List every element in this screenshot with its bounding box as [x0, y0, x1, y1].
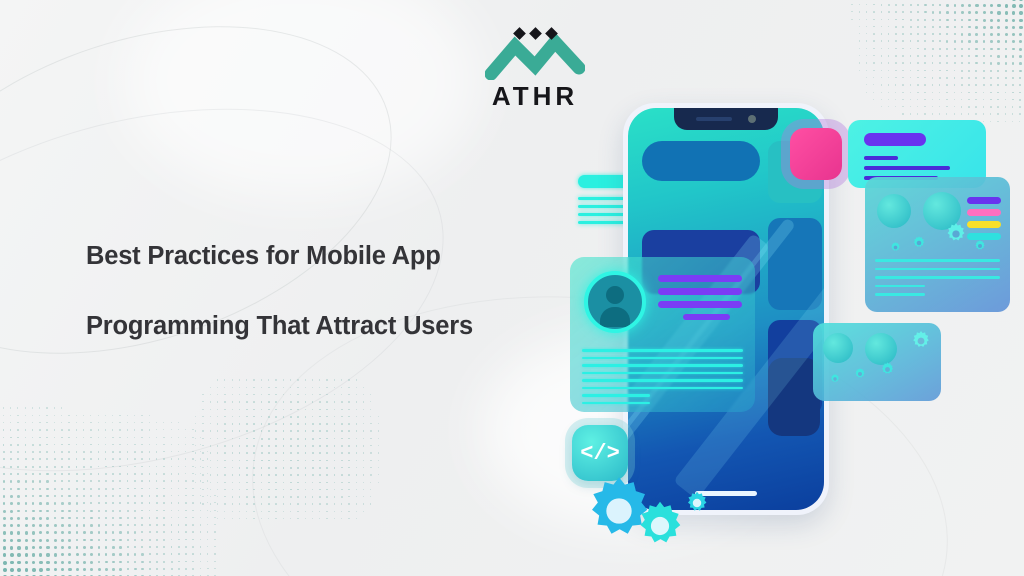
halftone-dot: [232, 416, 234, 418]
halftone-dot: [348, 445, 350, 447]
halftone-dot: [90, 437, 92, 439]
halftone-dot: [268, 496, 270, 498]
halftone-dot: [112, 531, 114, 533]
halftone-dot: [305, 467, 307, 469]
halftone-dot: [873, 40, 875, 42]
halftone-dot: [3, 415, 4, 416]
halftone-dot: [997, 33, 1000, 36]
halftone-dot: [866, 26, 867, 27]
halftone-dot: [112, 561, 115, 564]
halftone-dot: [3, 473, 5, 475]
halftone-dot: [348, 438, 350, 440]
halftone-dot: [859, 11, 860, 12]
halftone-dot: [997, 26, 1000, 29]
halftone-dot: [283, 379, 284, 380]
text-line: [875, 276, 1000, 279]
halftone-dot: [10, 480, 13, 483]
halftone-dot: [185, 568, 187, 570]
halftone-dot: [178, 422, 179, 423]
halftone-dot: [178, 488, 180, 490]
halftone-dot: [239, 452, 241, 454]
avatar-body: [600, 307, 630, 327]
halftone-dot: [46, 488, 48, 490]
text-line: [683, 314, 730, 320]
halftone-dot: [239, 438, 241, 440]
halftone-dot: [946, 62, 948, 64]
halftone-dot: [261, 409, 263, 411]
halftone-dot: [217, 489, 218, 490]
halftone-dot: [105, 415, 106, 416]
halftone-dot: [134, 488, 136, 490]
halftone-dot: [866, 33, 867, 34]
halftone-dot: [990, 48, 993, 51]
halftone-dot: [378, 438, 379, 439]
halftone-dot: [866, 70, 867, 71]
halftone-dot: [119, 480, 121, 482]
halftone-dot: [112, 510, 114, 512]
halftone-dot: [98, 561, 101, 564]
halftone-dot: [39, 495, 42, 498]
halftone-dot: [112, 422, 113, 423]
halftone-dot: [210, 460, 212, 462]
halftone-dot: [217, 496, 218, 497]
halftone-dot: [246, 409, 248, 411]
halftone-dot: [297, 496, 299, 498]
halftone-dot: [253, 489, 255, 491]
halftone-dot: [224, 496, 225, 497]
halftone-dot: [46, 539, 49, 542]
halftone-dot: [983, 62, 985, 64]
gear-orb-icon: [877, 194, 911, 228]
halftone-dot: [924, 26, 926, 28]
halftone-dot: [10, 561, 14, 565]
halftone-dot: [217, 467, 219, 469]
halftone-dot: [305, 401, 307, 403]
halftone-dot: [341, 445, 343, 447]
halftone-dot: [348, 482, 350, 484]
halftone-dot: [917, 19, 919, 21]
halftone-dot: [171, 466, 173, 468]
halftone-dot: [217, 452, 219, 454]
gear-icon-small: [911, 235, 927, 251]
halftone-dot: [149, 517, 151, 519]
halftone-dot: [39, 473, 41, 475]
halftone-dot: [224, 416, 226, 418]
halftone-dot: [3, 444, 5, 446]
halftone-dot: [261, 452, 263, 454]
halftone-dot: [3, 510, 6, 513]
halftone-dot: [910, 4, 912, 6]
halftone-dot: [149, 539, 151, 541]
halftone-dot: [990, 77, 992, 79]
halftone-dot: [305, 474, 307, 476]
halftone-dot: [141, 451, 143, 453]
halftone-dot: [105, 517, 107, 519]
halftone-dot: [46, 444, 48, 446]
halftone-dot: [32, 407, 33, 408]
halftone-dot: [924, 62, 926, 64]
halftone-dot: [105, 561, 108, 564]
halftone-dot: [119, 510, 121, 512]
halftone-dot: [112, 415, 113, 416]
halftone-dot: [163, 531, 165, 533]
halftone-dot: [246, 445, 248, 447]
halftone-dot: [76, 429, 78, 431]
halftone-dot: [356, 518, 357, 519]
halftone-dot: [1019, 11, 1023, 15]
halftone-dot: [171, 553, 173, 555]
halftone-dot: [46, 502, 49, 505]
halftone-dot: [290, 409, 292, 411]
halftone-dot: [39, 568, 43, 572]
halftone-dot: [268, 467, 270, 469]
halftone-dot: [881, 4, 883, 6]
halftone-dot: [192, 502, 194, 504]
halftone-dot: [127, 473, 129, 475]
halftone-dot: [305, 409, 307, 411]
halftone-dot: [17, 502, 20, 505]
halftone-dot: [46, 546, 49, 549]
halftone-dot: [39, 480, 41, 482]
status-pill: [967, 209, 1001, 216]
halftone-dot: [10, 510, 13, 513]
halftone-dot: [141, 444, 143, 446]
screen-block-hero: [642, 141, 760, 181]
halftone-dot: [32, 510, 35, 513]
halftone-dot: [134, 458, 136, 460]
halftone-dot: [239, 445, 241, 447]
halftone-dot: [246, 401, 248, 403]
halftone-dot: [90, 444, 92, 446]
halftone-dot: [363, 416, 364, 417]
halftone-dot: [32, 539, 35, 542]
phone-notch: [674, 108, 778, 130]
halftone-dot: [32, 466, 34, 468]
halftone-dot: [312, 445, 314, 447]
halftone-dot: [156, 488, 158, 490]
halftone-dot: [1019, 33, 1022, 36]
halftone-dot: [32, 444, 34, 446]
halftone-dot: [253, 387, 254, 388]
halftone-dot: [68, 524, 71, 527]
halftone-dot: [290, 452, 292, 454]
halftone-dot: [341, 438, 343, 440]
halftone-dot: [39, 517, 42, 520]
halftone-dot: [946, 4, 949, 7]
halftone-dot: [46, 437, 48, 439]
halftone-dot: [297, 387, 299, 389]
halftone-dot: [232, 496, 234, 498]
halftone-dot: [39, 531, 42, 534]
halftone-dot: [895, 26, 897, 28]
text-line: [875, 268, 1000, 271]
halftone-dot: [1019, 55, 1022, 58]
halftone-pattern-bottom-left: [0, 400, 228, 576]
halftone-dot: [83, 517, 86, 520]
halftone-dot: [178, 510, 180, 512]
gear-icon-small: [853, 367, 867, 381]
halftone-dot: [185, 524, 187, 526]
halftone-dot: [200, 553, 202, 555]
halftone-dot: [76, 524, 79, 527]
halftone-dot: [268, 482, 270, 484]
halftone-dot: [61, 553, 64, 556]
halftone-dot: [25, 458, 27, 460]
halftone-dot: [239, 511, 240, 512]
halftone-dot: [924, 11, 926, 13]
halftone-dot: [232, 409, 234, 411]
halftone-dot: [112, 553, 115, 556]
halftone-dot: [356, 401, 357, 402]
halftone-dot: [214, 546, 215, 547]
halftone-dot: [3, 458, 5, 460]
halftone-dot: [207, 561, 208, 562]
halftone-dot: [319, 387, 320, 388]
halftone-dot: [68, 466, 70, 468]
halftone-dot: [210, 423, 211, 424]
halftone-dot: [290, 474, 292, 476]
halftone-dot: [61, 495, 63, 497]
halftone-dot: [356, 503, 357, 504]
halftone-dot: [178, 568, 180, 570]
halftone-dot: [917, 4, 919, 6]
halftone-dot: [54, 422, 55, 423]
halftone-dot: [305, 511, 307, 513]
halftone-dot: [17, 524, 20, 527]
halftone-dot: [363, 387, 364, 388]
halftone-dot: [975, 55, 977, 57]
halftone-dot: [134, 466, 136, 468]
halftone-dot: [10, 517, 13, 520]
halftone-dot: [163, 539, 165, 541]
halftone-dot: [997, 77, 999, 79]
halftone-dot: [76, 502, 78, 504]
halftone-dot: [290, 503, 292, 505]
halftone-dot: [185, 480, 187, 482]
halftone-dot: [156, 553, 158, 555]
halftone-dot: [888, 40, 890, 42]
halftone-dot: [17, 473, 19, 475]
halftone-dot: [983, 77, 985, 79]
halftone-dot: [119, 422, 120, 423]
halftone-dot: [54, 510, 57, 513]
halftone-dot: [283, 401, 285, 403]
halftone-dot: [156, 524, 158, 526]
halftone-dot: [98, 524, 101, 527]
halftone-dot: [290, 387, 292, 389]
halftone-dot: [939, 48, 941, 50]
halftone-dot: [134, 429, 135, 430]
halftone-dot: [25, 495, 28, 498]
halftone-dot: [76, 473, 78, 475]
halftone-dot: [946, 77, 948, 79]
halftone-dot: [246, 503, 248, 505]
halftone-dot: [163, 524, 165, 526]
halftone-dot: [32, 429, 34, 431]
halftone-dot: [163, 502, 165, 504]
halftone-dot: [1019, 62, 1022, 65]
halftone-dot: [348, 452, 350, 454]
halftone-dot: [334, 409, 336, 411]
halftone-dot: [39, 437, 41, 439]
halftone-dot: [873, 48, 874, 49]
halftone-dot: [105, 510, 107, 512]
halftone-dot: [25, 444, 27, 446]
halftone-dot: [156, 561, 158, 563]
halftone-dot: [217, 379, 218, 380]
halftone-dot: [873, 70, 874, 71]
halftone-dot: [239, 467, 241, 469]
halftone-dot: [25, 524, 28, 527]
halftone-dot: [156, 531, 158, 533]
halftone-dot: [946, 70, 948, 72]
halftone-pattern-center: [195, 372, 385, 532]
halftone-dot: [895, 4, 897, 6]
halftone-dot: [195, 430, 196, 431]
halftone-dot: [348, 503, 349, 504]
halftone-dot: [319, 489, 321, 491]
halftone-dot: [46, 451, 48, 453]
halftone-dot: [207, 546, 208, 547]
halftone-dot: [10, 553, 14, 557]
halftone-dot: [326, 482, 328, 484]
halftone-dot: [3, 531, 6, 534]
halftone-dot: [68, 422, 69, 423]
halftone-dot: [3, 495, 6, 498]
halftone-dot: [239, 423, 241, 425]
halftone-dot: [83, 415, 84, 416]
halftone-dot: [312, 416, 314, 418]
halftone-dot: [68, 539, 71, 542]
halftone-dot: [326, 503, 328, 505]
halftone-dot: [68, 488, 70, 490]
halftone-dot: [895, 33, 897, 35]
halftone-dot: [76, 517, 79, 520]
halftone-dot: [1005, 11, 1009, 15]
halftone-dot: [171, 546, 173, 548]
halftone-dot: [112, 458, 114, 460]
halftone-dot: [46, 510, 49, 513]
halftone-dot: [195, 467, 196, 468]
halftone-dot: [149, 568, 151, 570]
halftone-dot: [61, 444, 63, 446]
halftone-dot: [217, 460, 219, 462]
halftone-dot: [32, 458, 34, 460]
halftone-dot: [246, 423, 248, 425]
halftone-dot: [83, 553, 86, 556]
halftone-dot: [917, 11, 919, 13]
halftone-dot: [356, 489, 357, 490]
halftone-dot: [334, 496, 336, 498]
halftone-dot: [83, 422, 84, 423]
halftone-dot: [954, 62, 956, 64]
halftone-dot: [98, 473, 100, 475]
halftone-dot: [10, 451, 12, 453]
profile-text-lines: [658, 275, 742, 326]
halftone-dot: [290, 445, 292, 447]
halftone-dot: [297, 445, 299, 447]
halftone-dot: [25, 407, 26, 408]
page-title-line-2: Programming That Attract Users: [86, 312, 556, 340]
halftone-dot: [192, 495, 194, 497]
halftone-dot: [924, 48, 926, 50]
halftone-dot: [202, 452, 203, 453]
halftone-dot: [202, 482, 203, 483]
halftone-dot: [261, 496, 263, 498]
halftone-dot: [141, 495, 143, 497]
halftone-dot: [98, 553, 101, 556]
halftone-dot: [326, 489, 328, 491]
halftone-dot: [268, 423, 270, 425]
halftone-dot: [356, 452, 358, 454]
halftone-dot: [112, 451, 114, 453]
halftone-dot: [171, 561, 173, 563]
speaker-icon: [696, 117, 732, 121]
halftone-dot: [90, 517, 92, 519]
halftone-dot: [297, 518, 298, 519]
halftone-dot: [10, 466, 12, 468]
halftone-dot: [954, 4, 957, 7]
halftone-dot: [68, 502, 70, 504]
halftone-dot: [253, 394, 255, 396]
halftone-dot: [119, 437, 121, 439]
halftone-dot: [156, 458, 158, 460]
halftone-dot: [210, 416, 211, 417]
halftone-dot: [334, 387, 335, 388]
halftone-dot: [25, 561, 29, 565]
halftone-dot: [210, 430, 211, 431]
halftone-dot: [83, 473, 85, 475]
halftone-dot: [983, 11, 986, 14]
halftone-dot: [217, 394, 218, 395]
halftone-dot: [902, 77, 904, 79]
halftone-dot: [356, 423, 358, 425]
halftone-dot: [888, 11, 890, 13]
halftone-dot: [112, 466, 114, 468]
halftone-dot: [283, 496, 285, 498]
halftone-dot: [210, 467, 211, 468]
halftone-dot: [202, 489, 203, 490]
halftone-dot: [210, 394, 211, 395]
halftone-dot: [192, 473, 193, 474]
halftone-dot: [924, 55, 926, 57]
halftone-dot: [210, 401, 211, 402]
halftone-dot: [224, 482, 226, 484]
halftone-dot: [46, 458, 48, 460]
halftone-dot: [253, 467, 255, 469]
halftone-dot: [25, 539, 28, 542]
halftone-dot: [54, 546, 57, 549]
halftone-dot: [192, 546, 194, 548]
halftone-dot: [76, 415, 77, 416]
halftone-dot: [127, 422, 128, 423]
halftone-dot: [1005, 55, 1008, 58]
halftone-dot: [149, 531, 151, 533]
halftone-dot: [326, 409, 328, 411]
halftone-dot: [76, 495, 78, 497]
halftone-dot: [232, 379, 233, 380]
halftone-dot: [54, 568, 58, 572]
halftone-dot: [954, 55, 956, 57]
halftone-dot: [341, 474, 343, 476]
halftone-dot: [268, 511, 270, 513]
halftone-dot: [261, 445, 263, 447]
halftone-dot: [246, 474, 248, 476]
halftone-dot: [83, 495, 85, 497]
halftone-dot: [17, 458, 19, 460]
halftone-dot: [246, 379, 247, 380]
halftone-dot: [3, 488, 6, 491]
